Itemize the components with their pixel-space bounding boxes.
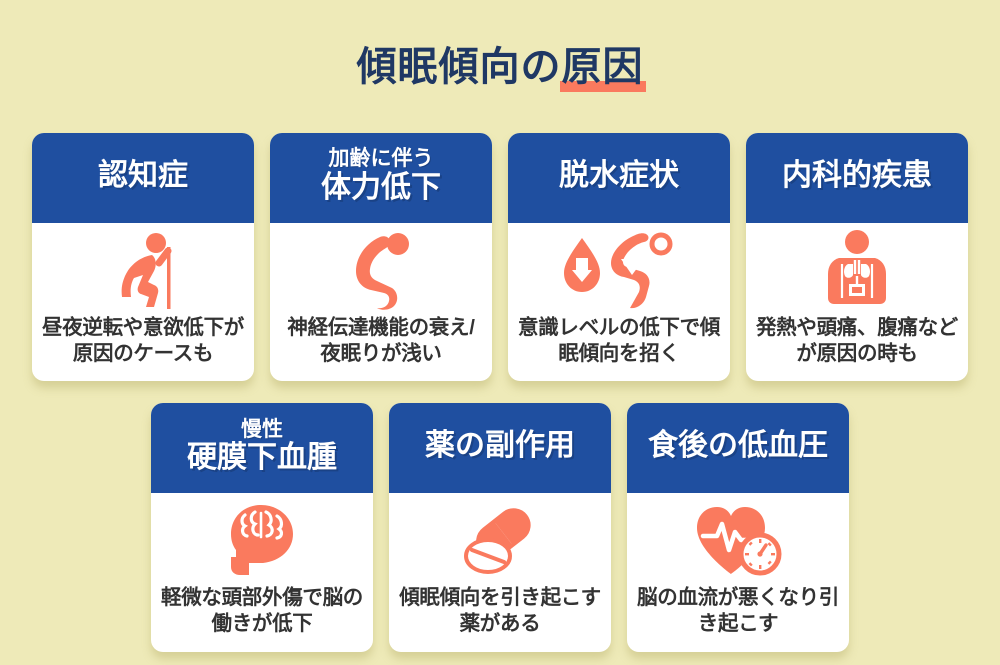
card-header: 認知症 — [32, 133, 254, 223]
card-medication-side-effect[interactable]: 薬の副作用 傾眠傾向を引き起こす薬がある — [389, 403, 611, 651]
card-description: 発熱や頭痛、腹痛などが原因の時も — [746, 315, 968, 381]
card-description-text: 昼夜逆転や意欲低下が原因のケースも — [42, 315, 244, 367]
card-dementia[interactable]: 認知症 昼夜逆転や意欲低下が原因のケースも — [32, 133, 254, 381]
card-header: 慢性 硬膜下血腫 — [151, 403, 373, 493]
card-internal-disease[interactable]: 内科的疾患 発熱や頭痛、腹痛などが原因の時も — [746, 133, 968, 381]
card-title: 認知症 — [98, 159, 188, 193]
card-dehydration[interactable]: 脱水症状 意識レベルの低下で傾眠傾向を招く — [508, 133, 730, 381]
page-title-area: 傾眠傾向の原因 — [0, 0, 1000, 116]
card-header: 食後の低血圧 — [627, 403, 849, 493]
card-title-sub: 慢性 — [241, 418, 283, 442]
card-postprandial-hypotension[interactable]: 食後の低血圧 — [627, 403, 849, 651]
card-title: 薬の副作用 — [425, 429, 575, 463]
card-description-text: 発熱や頭痛、腹痛などが原因の時も — [756, 315, 958, 367]
card-title: 体力低下 — [321, 171, 441, 205]
card-header: 内科的疾患 — [746, 133, 968, 223]
human-body-internal-organs-icon — [746, 223, 968, 315]
card-title: 脱水症状 — [559, 159, 679, 193]
elderly-person-with-cane-icon — [32, 223, 254, 315]
card-header: 加齢に伴う 体力低下 — [270, 133, 492, 223]
card-description: 脳の血流が悪くなり引き起こす — [627, 585, 849, 651]
card-description-text: 傾眠傾向を引き起こす薬がある — [399, 585, 601, 637]
card-description-text: 意識レベルの低下で傾眠傾向を招く — [518, 315, 720, 367]
card-title-sub: 加齢に伴う — [329, 147, 434, 171]
card-title: 内科的疾患 — [782, 159, 932, 193]
page-title-highlighted: 原因 — [562, 45, 644, 89]
card-header: 薬の副作用 — [389, 403, 611, 493]
card-description-text: 軽微な頭部外傷で脳の働きが低下 — [161, 585, 363, 637]
page-title-plain: 傾眠傾向の — [357, 45, 562, 89]
card-title: 食後の低血圧 — [648, 429, 828, 463]
card-chronic-subdural-hematoma[interactable]: 慢性 硬膜下血腫 軽微な頭部外傷で脳の働きが低下 — [151, 403, 373, 651]
card-description: 傾眠傾向を引き起こす薬がある — [389, 585, 611, 651]
card-description: 神経伝達機能の衰え/夜眠りが浅い — [270, 315, 492, 381]
card-title: 硬膜下血腫 — [187, 441, 337, 475]
card-row-1: 認知症 昼夜逆転や意欲低下が原因のケースも 加齢に伴う 体力低下 神 — [0, 133, 1000, 381]
card-age-related-decline[interactable]: 加齢に伴う 体力低下 神経伝達機能の衰え/夜眠りが浅い — [270, 133, 492, 381]
card-description: 意識レベルの低下で傾眠傾向を招く — [508, 315, 730, 381]
heart-pulse-gauge-icon — [627, 493, 849, 585]
fatigued-person-icon — [270, 223, 492, 315]
card-description: 昼夜逆転や意欲低下が原因のケースも — [32, 315, 254, 381]
water-drop-down-arrow-person-icon — [508, 223, 730, 315]
card-header: 脱水症状 — [508, 133, 730, 223]
card-description-text: 神経伝達機能の衰え/夜眠りが浅い — [280, 315, 482, 367]
page-title: 傾眠傾向の原因 — [357, 45, 644, 89]
card-description: 軽微な頭部外傷で脳の働きが低下 — [151, 585, 373, 651]
card-description-text: 脳の血流が悪くなり引き起こす — [637, 585, 839, 637]
pills-capsule-icon — [389, 493, 611, 585]
card-row-2: 慢性 硬膜下血腫 軽微な頭部外傷で脳の働きが低下 薬の副作用 — [0, 403, 1000, 651]
head-brain-icon — [151, 493, 373, 585]
